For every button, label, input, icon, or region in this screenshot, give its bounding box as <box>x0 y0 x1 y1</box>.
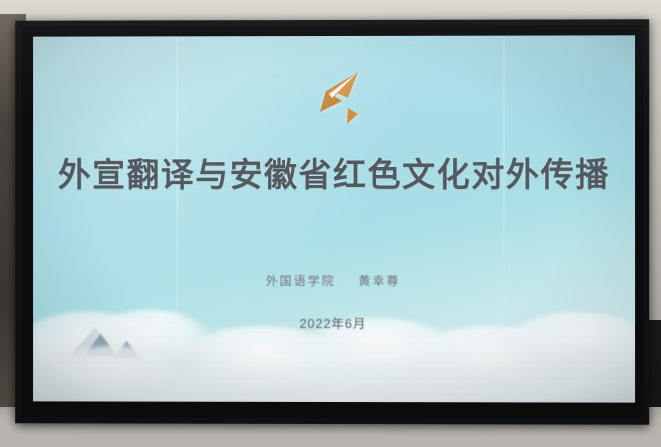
projection-screen-frame: 外宣翻译与安徽省红色文化对外传播 外国语学院 黄幸尊 2022年6月 <box>15 19 649 424</box>
presentation-slide: 外宣翻译与安徽省红色文化对外传播 外国语学院 黄幸尊 2022年6月 <box>33 35 635 402</box>
byline-department: 外国语学院 <box>266 274 336 288</box>
slide-date: 2022年6月 <box>300 313 367 332</box>
paper-plane-icon <box>296 68 370 130</box>
byline-presenter: 黄幸尊 <box>358 274 400 288</box>
slide-title: 外宣翻译与安徽省红色文化对外传播 <box>58 148 610 196</box>
projection-photo: 外宣翻译与安徽省红色文化对外传播 外国语学院 黄幸尊 2022年6月 <box>0 0 661 447</box>
slide-byline: 外国语学院 黄幸尊 <box>266 272 401 289</box>
slide-content: 外宣翻译与安徽省红色文化对外传播 外国语学院 黄幸尊 2022年6月 <box>33 35 635 402</box>
